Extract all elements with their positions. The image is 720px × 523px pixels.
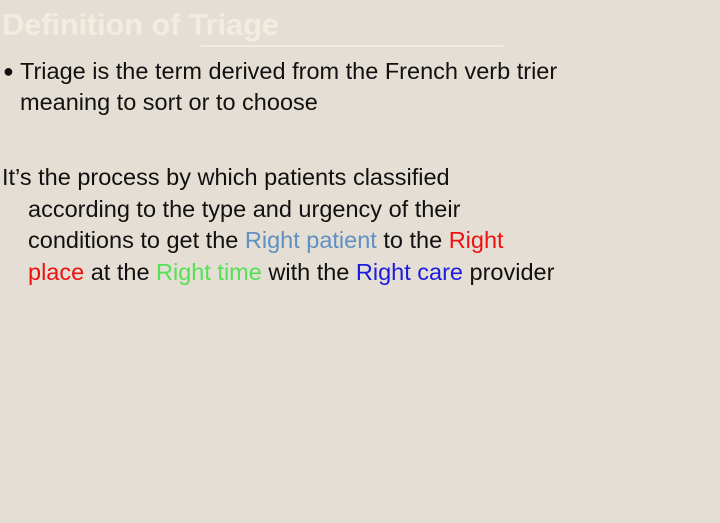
definition-line-2: according to the type and urgency of the… [2,194,718,226]
definition-line-3-middle: to the [377,227,449,253]
title-underline-divider [201,45,503,47]
definition-line-3-before: conditions to get the [28,227,245,253]
page-title: Definition of Triage [2,6,279,44]
slide-title-block: Definition of Triage [0,4,720,50]
bullet-list-item: ● Triage is the term derived from the Fr… [0,56,720,118]
highlight-right-place-part1: Right [449,227,504,253]
definition-line-1: It’s the process by which patients class… [2,164,450,190]
slide-body: ● Triage is the term derived from the Fr… [0,56,720,118]
definition-line-4-after-1: at the [84,259,156,285]
bullet-line-1: Triage is the term derived from the Fren… [20,58,557,84]
highlight-right-place-part2: place [28,259,84,285]
definition-line-4-after-3: provider [463,259,554,285]
highlight-right-care: Right care [356,259,463,285]
definition-line-4: place at the Right time with the Right c… [2,257,718,289]
definition-paragraph: It’s the process by which patients class… [2,162,718,288]
highlight-right-time: Right time [156,259,262,285]
bullet-line-2: meaning to sort or to choose [20,89,318,115]
definition-line-3: conditions to get the Right patient to t… [2,225,718,257]
definition-line-4-after-2: with the [262,259,356,285]
slide-canvas: Definition of Triage ● Triage is the ter… [0,0,720,523]
highlight-right-patient: Right patient [245,227,377,253]
bullet-dot-icon: ● [3,56,14,87]
